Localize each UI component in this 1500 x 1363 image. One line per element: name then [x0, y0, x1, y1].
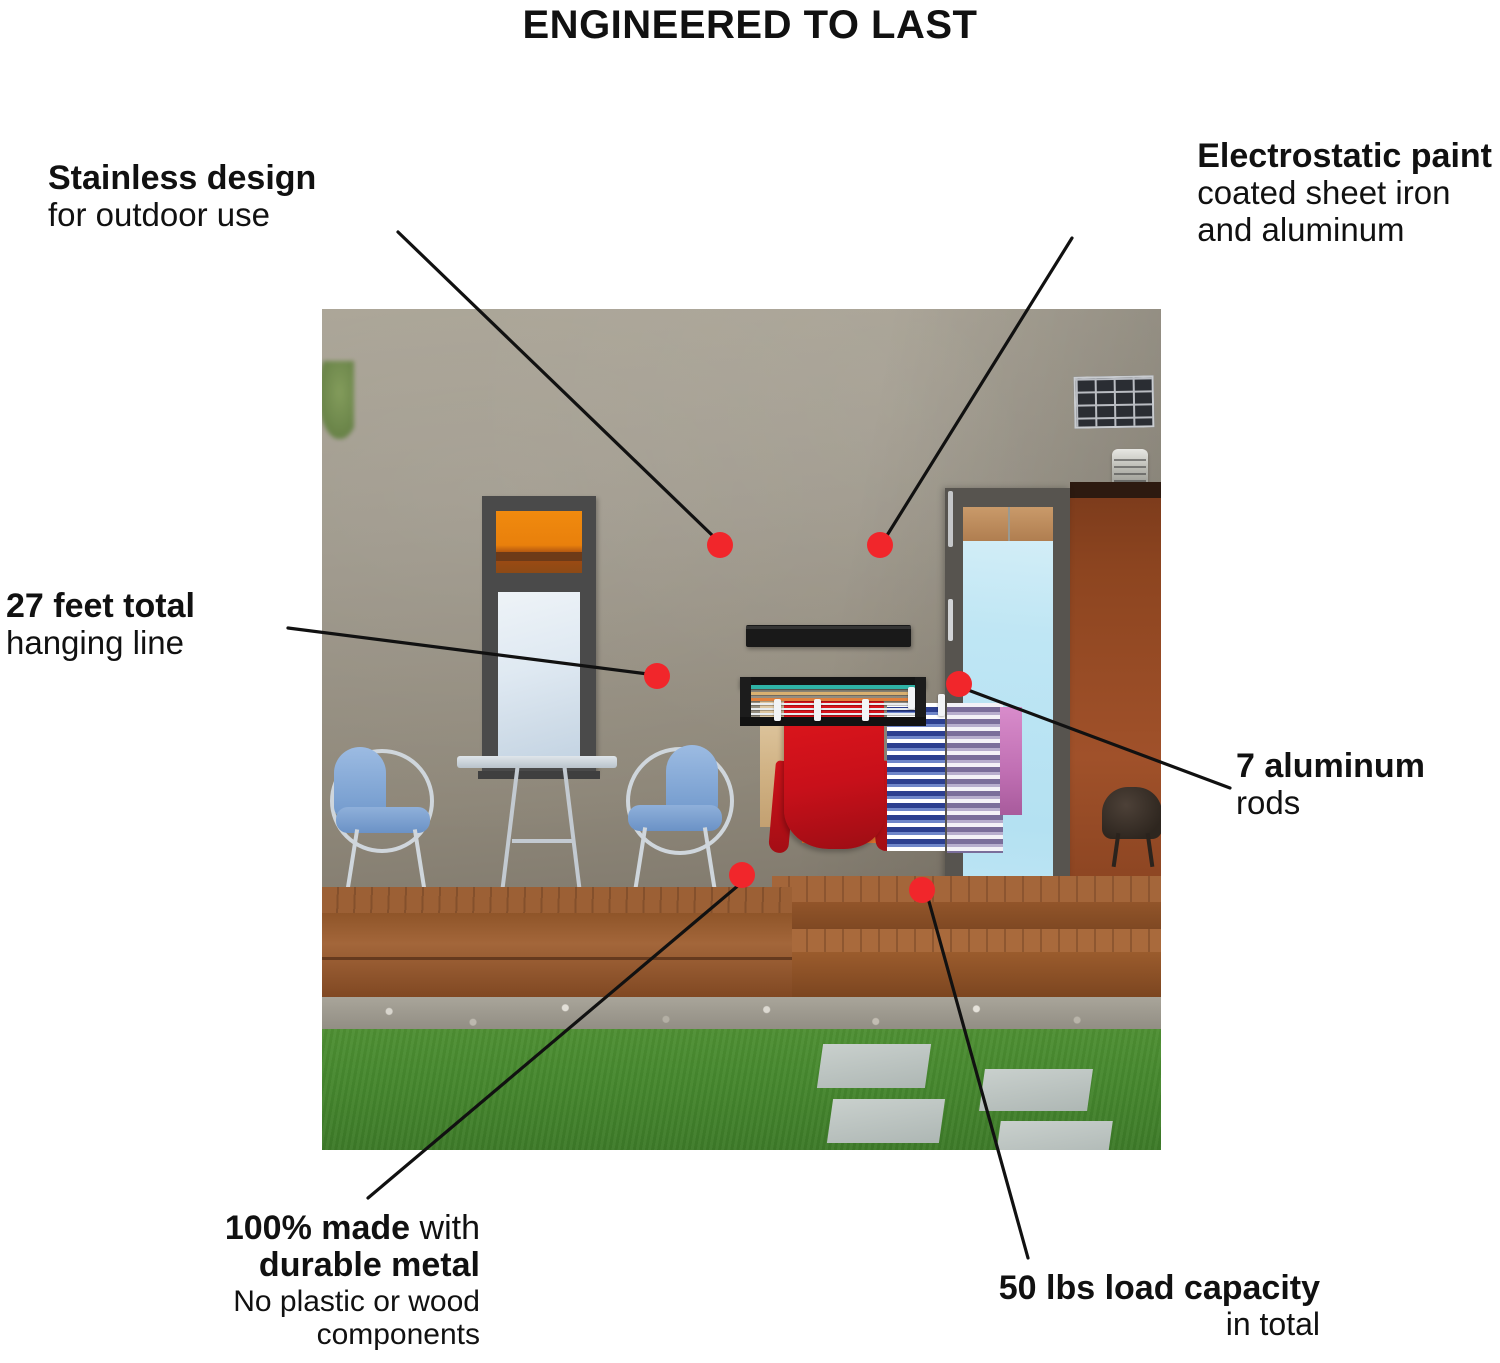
- page-title: ENGINEERED TO LAST: [0, 0, 1500, 48]
- callout-electrostatic-regular-1: coated sheet iron: [1197, 175, 1492, 211]
- callout-electrostatic-regular-2: and aluminum: [1197, 212, 1492, 248]
- gravel-strip: [322, 997, 1161, 1033]
- callout-load-regular: in total: [760, 1307, 1320, 1342]
- callout-metal-bold-1: 100% made: [225, 1209, 410, 1247]
- interior-header: [1070, 482, 1161, 498]
- callout-stainless-bold: Stainless design: [48, 160, 316, 197]
- product-photo: [322, 309, 1161, 1150]
- deck-seam-line: [322, 957, 792, 960]
- deck-upper-face: [772, 902, 1161, 932]
- stone-paver: [995, 1121, 1113, 1150]
- callout-electrostatic-bold: Electrostatic paint: [1197, 138, 1492, 175]
- plant-foliage: [322, 361, 354, 439]
- callout-rods-bold: 7 aluminum: [1236, 748, 1425, 785]
- callout-metal-regular-1: with: [410, 1209, 480, 1247]
- stone-paver: [979, 1069, 1093, 1111]
- callout-metal-regular-3: No plastic or wood: [40, 1285, 480, 1318]
- callout-metal-bold-2: durable metal: [40, 1247, 480, 1284]
- callout-load-capacity: 50 lbs load capacity in total: [760, 1270, 1320, 1343]
- callout-durable-metal: 100% made with durable metal No plastic …: [40, 1210, 480, 1351]
- rack-rod-2: [751, 692, 915, 695]
- callout-stainless-regular: for outdoor use: [48, 197, 316, 233]
- patio-table-top: [457, 756, 617, 768]
- transom-divider: [1008, 507, 1010, 541]
- callout-rods-regular: rods: [1236, 785, 1425, 821]
- callout-load-bold: 50 lbs load capacity: [760, 1270, 1320, 1307]
- callout-hanging-line: 27 feet total hanging line: [6, 588, 195, 662]
- stone-paver: [817, 1044, 931, 1088]
- callout-electrostatic-paint: Electrostatic paint coated sheet iron an…: [1197, 138, 1492, 248]
- drying-rack-bottom-rail: [740, 717, 926, 726]
- wall-bar-highlight: [746, 626, 911, 629]
- clothespin: [774, 699, 781, 721]
- callout-metal-regular-4: components: [40, 1318, 480, 1351]
- laundry-lavender-striped-towel: [947, 703, 1003, 853]
- deck-step-riser: [772, 952, 1161, 1000]
- callout-stainless-design: Stainless design for outdoor use: [48, 160, 316, 234]
- window-upper-glass: [496, 511, 582, 573]
- window-interior-sill: [496, 552, 582, 561]
- callout-hanging-regular: hanging line: [6, 625, 195, 661]
- callout-metal-line-1: 100% made with: [40, 1210, 480, 1247]
- door-handle: [948, 599, 953, 641]
- callout-hanging-bold: 27 feet total: [6, 588, 195, 625]
- callout-aluminum-rods: 7 aluminum rods: [1236, 748, 1425, 822]
- clothespin: [814, 699, 821, 721]
- interior-chair: [1102, 787, 1161, 839]
- clothespin: [862, 699, 869, 721]
- clothespin: [938, 694, 945, 716]
- deck-upper-surface: [772, 876, 1161, 904]
- patio-table-stretcher: [512, 839, 574, 843]
- clothespin: [908, 687, 915, 709]
- laundry-pink-cloth: [1000, 707, 1022, 815]
- stone-paver: [827, 1099, 945, 1143]
- door-hinge-strip: [948, 491, 953, 547]
- window-lower-glass: [498, 592, 580, 758]
- window-ledge: [478, 771, 600, 779]
- wall-vent-grid: [1074, 375, 1155, 428]
- rack-rod-1: [751, 685, 915, 689]
